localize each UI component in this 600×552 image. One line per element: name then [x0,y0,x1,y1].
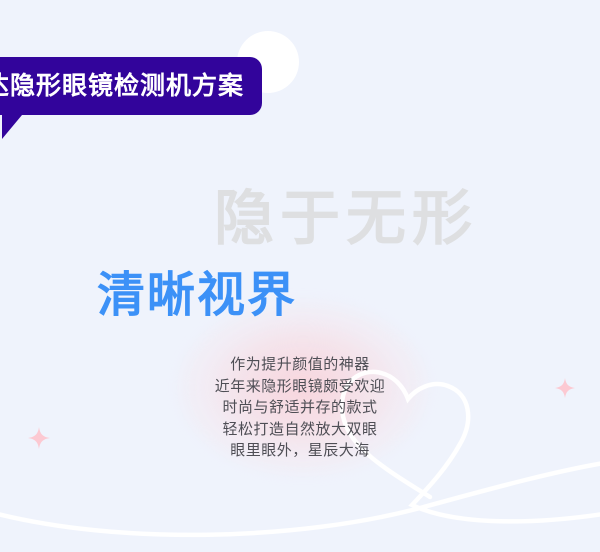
poster-canvas: 合达隐形眼镜检测机方案 隐于无形 清晰视界 作为提升颜值的神器 近年来隐形眼镜颇… [0,0,600,552]
title-badge-tail [2,115,22,139]
body-copy-line: 作为提升颜值的神器 [150,354,450,376]
body-copy-line: 眼里眼外，星辰大海 [150,440,450,462]
body-copy-block: 作为提升颜值的神器 近年来隐形眼镜颇受欢迎 时尚与舒适并存的款式 轻松打造自然放… [150,354,450,462]
title-badge-label: 合达隐形眼镜检测机方案 [0,74,244,99]
title-badge: 合达隐形眼镜检测机方案 [0,57,262,115]
ghost-heading: 隐于无形 [214,189,478,249]
main-heading: 清晰视界 [97,272,297,320]
title-badge-body: 合达隐形眼镜检测机方案 [0,57,262,115]
body-copy-line: 时尚与舒适并存的款式 [150,397,450,419]
body-copy-line: 轻松打造自然放大双眼 [150,419,450,441]
sparkle-left-icon [28,427,50,449]
body-copy-line: 近年来隐形眼镜颇受欢迎 [150,376,450,398]
sparkle-right-icon [555,378,575,398]
